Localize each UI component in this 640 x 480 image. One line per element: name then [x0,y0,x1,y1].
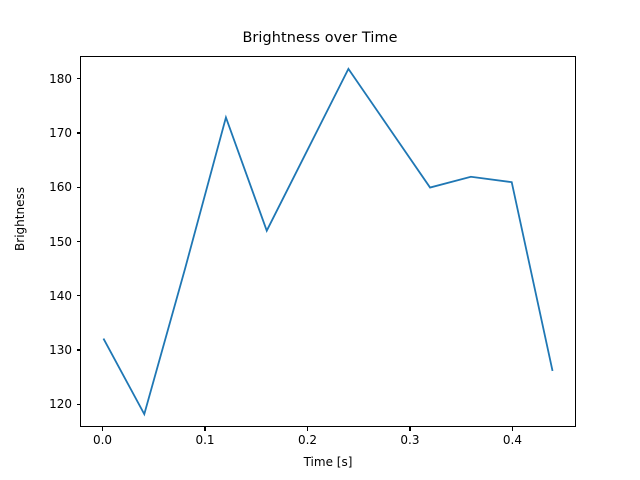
y-axis-label: Brightness [13,139,27,299]
x-tick-mark [512,427,513,431]
y-tick-label: 140 [49,290,72,302]
x-tick-label: 0.1 [195,434,214,446]
x-tick-mark [204,427,205,431]
x-tick-mark [102,427,103,431]
x-axis-label: Time [s] [80,455,576,469]
x-tick-label: 0.3 [400,434,419,446]
x-tick-mark [307,427,308,431]
x-tick-label: 0.2 [298,434,317,446]
y-tick-label: 130 [49,344,72,356]
plot-area [80,56,576,427]
y-tick-label: 180 [49,73,72,85]
y-tick-label: 160 [49,181,72,193]
y-tick-label: 170 [49,127,72,139]
x-tick-label: 0.4 [503,434,522,446]
y-tick-label: 150 [49,236,72,248]
matplotlib-figure: Brightness over Time 1201301401501601701… [0,0,640,480]
x-tick-mark [409,427,410,431]
page-title: Brightness over Time [0,30,640,46]
series-line-brightness [103,69,552,414]
line-plot-svg [81,57,575,426]
y-tick-label: 120 [49,398,72,410]
x-tick-label: 0.0 [93,434,112,446]
